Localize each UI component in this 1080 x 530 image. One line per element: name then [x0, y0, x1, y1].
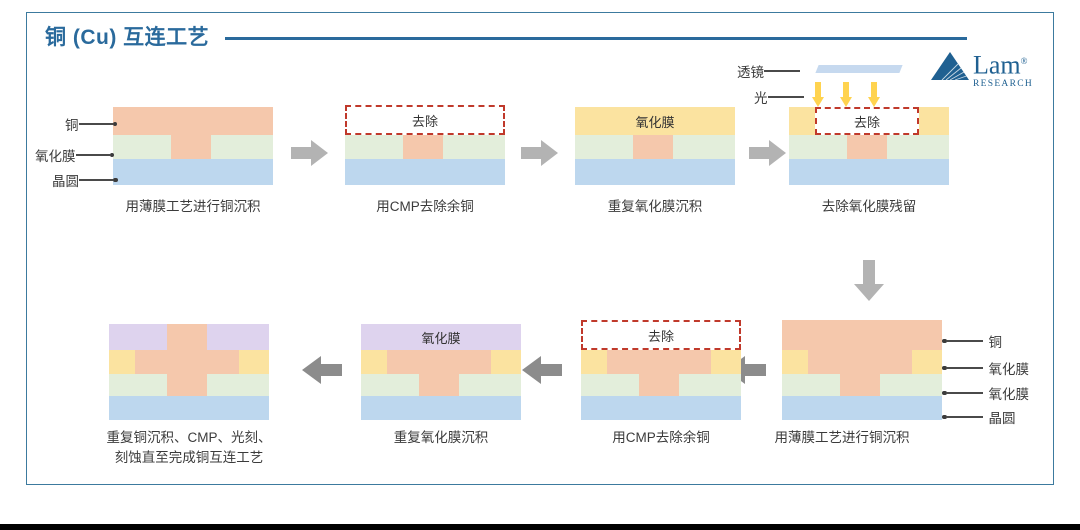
- diagram-step1: [113, 107, 273, 185]
- oxide-layer-label: 氧化膜: [575, 107, 735, 135]
- leader-line: [79, 179, 113, 180]
- callout-light: 光: [754, 87, 804, 107]
- triangle-icon: [930, 51, 970, 81]
- caption-step4: 去除氧化膜残留: [769, 197, 969, 217]
- leader-line: [79, 123, 113, 124]
- leader-line: [768, 96, 804, 97]
- layer-copper-blanket: [782, 320, 942, 350]
- layer-copper-via-upper: [167, 324, 207, 350]
- layer-copper-trench: [633, 135, 673, 159]
- caption-step3: 重复氧化膜沉积: [555, 197, 755, 217]
- oxide-layer-label: 氧化膜: [361, 324, 521, 350]
- logo-name: Lam: [973, 51, 1021, 80]
- lens-shape: [815, 65, 902, 73]
- callout-oxide-lower-step5: 氧化膜: [942, 383, 1029, 403]
- diagram-step4: 去除: [789, 107, 949, 185]
- layer-wafer: [789, 159, 949, 185]
- leader-line: [947, 416, 983, 417]
- caption-step8: 重复铜沉积、CMP、光刻、 刻蚀直至完成铜互连工艺: [79, 428, 299, 468]
- arrow-left-3: [301, 355, 343, 385]
- callout-copper-step5: 铜: [942, 331, 1002, 351]
- logo-subtitle: RESEARCH: [973, 79, 1033, 89]
- layer-wafer: [113, 159, 273, 185]
- layer-copper-trench: [808, 350, 912, 374]
- leader-dot: [113, 178, 118, 183]
- arrow-right-1: [291, 139, 329, 167]
- callout-label: 氧化膜: [35, 145, 76, 165]
- leader-line: [947, 340, 983, 341]
- callout-label: 氧化膜: [989, 383, 1030, 403]
- layer-oxide-purple: 氧化膜: [361, 324, 521, 350]
- leader-line: [947, 392, 983, 393]
- diagram-step5: [782, 320, 942, 420]
- layer-copper-via: [840, 374, 880, 396]
- callout-label: 光: [754, 87, 768, 107]
- callout-label: 铜: [989, 331, 1003, 351]
- logo-trademark: ®: [1021, 56, 1028, 66]
- remove-label: 去除: [648, 326, 674, 345]
- remove-region-step4: 去除: [815, 107, 919, 135]
- arrow-right-3: [749, 139, 787, 167]
- diagram-step3: 氧化膜: [575, 107, 735, 185]
- layer-copper-trench: [847, 135, 887, 159]
- callout-copper-step1: 铜: [65, 114, 117, 134]
- callout-oxide-upper-step5: 氧化膜: [942, 358, 1029, 378]
- light-ray-3-icon: [867, 82, 881, 108]
- bottom-bar: [0, 524, 1080, 530]
- callout-label: 晶圆: [989, 407, 1016, 427]
- callout-label: 铜: [65, 114, 79, 134]
- arrow-right-2: [521, 139, 559, 167]
- slide-canvas: 铜 (Cu) 互连工艺 Lam® RESEARCH 铜: [26, 12, 1054, 485]
- layer-oxide-yellow: 氧化膜: [575, 107, 735, 135]
- leader-line: [764, 70, 800, 71]
- callout-label: 透镜: [737, 61, 764, 81]
- layer-copper-trench: [403, 135, 443, 159]
- caption-step1: 用薄膜工艺进行铜沉积: [68, 197, 318, 217]
- callout-oxide-step1: 氧化膜: [35, 145, 114, 165]
- layer-wafer: [109, 396, 269, 420]
- caption-step5: 用薄膜工艺进行铜沉积: [742, 428, 942, 448]
- light-ray-2-icon: [839, 82, 853, 108]
- caption-step2: 用CMP去除余铜: [325, 197, 525, 217]
- remove-region-step6: 去除: [581, 320, 741, 350]
- remove-label: 去除: [412, 111, 438, 130]
- layer-wafer: [581, 396, 741, 420]
- leader-line: [947, 367, 983, 368]
- arrow-left-2: [521, 355, 563, 385]
- callout-lens: 透镜: [737, 61, 800, 81]
- layer-copper-trench: [607, 350, 711, 374]
- callout-wafer-step5: 晶圆: [942, 407, 1016, 427]
- layer-copper-trench: [387, 350, 491, 374]
- layer-copper-via: [419, 374, 459, 396]
- arrow-down-connector: [853, 260, 885, 302]
- layer-copper-trench: [171, 135, 211, 159]
- leader-dot: [113, 122, 118, 127]
- diagram-step7: 氧化膜: [361, 324, 521, 420]
- diagram-step8: [109, 324, 269, 420]
- page-title: 铜 (Cu) 互连工艺: [45, 21, 209, 51]
- callout-label: 晶圆: [52, 170, 79, 190]
- layer-copper-trench: [135, 350, 239, 374]
- slide-title-row: 铜 (Cu) 互连工艺: [45, 21, 967, 51]
- callout-wafer-step1: 晶圆: [52, 170, 118, 190]
- layer-wafer: [782, 396, 942, 420]
- layer-wafer: [361, 396, 521, 420]
- layer-wafer: [575, 159, 735, 185]
- caption-step7: 重复氧化膜沉积: [341, 428, 541, 448]
- lam-research-logo: Lam® RESEARCH: [930, 49, 1050, 85]
- leader-line: [76, 154, 110, 155]
- diagram-step2: 去除: [345, 121, 505, 185]
- layer-wafer: [345, 159, 505, 185]
- diagram-step6: 去除: [581, 350, 741, 420]
- light-ray-1-icon: [811, 82, 825, 108]
- caption-step6: 用CMP去除余铜: [561, 428, 761, 448]
- logo-text: Lam® RESEARCH: [973, 49, 1033, 89]
- title-rule: [225, 37, 967, 40]
- remove-label: 去除: [854, 112, 880, 131]
- layer-copper-via: [639, 374, 679, 396]
- layer-copper-via-lower: [167, 374, 207, 396]
- leader-dot: [110, 153, 115, 158]
- remove-region-step2: 去除: [345, 105, 505, 135]
- layer-copper-blanket: [113, 107, 273, 135]
- callout-label: 氧化膜: [989, 358, 1030, 378]
- logo-wordmark: Lam®: [973, 49, 1033, 78]
